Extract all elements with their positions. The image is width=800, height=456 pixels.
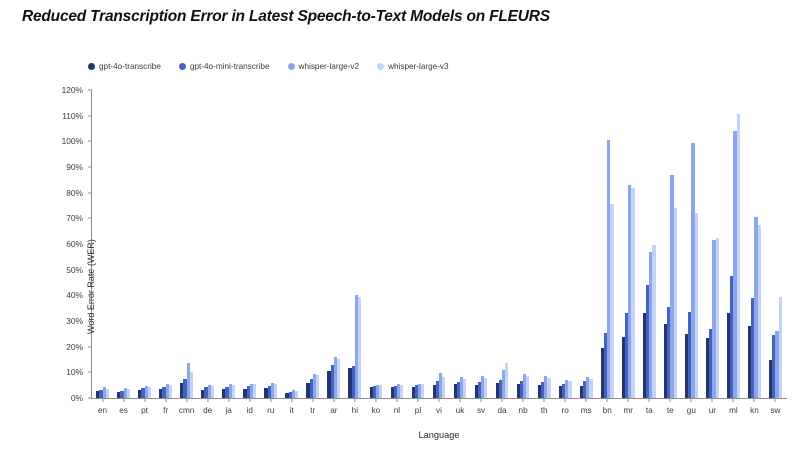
bar-group-ar[interactable]: ar [323, 90, 344, 398]
x-axis-tick-label: te [667, 406, 674, 415]
bar-group-es[interactable]: es [113, 90, 134, 398]
x-axis-tick-mark [249, 398, 250, 402]
x-axis-tick-label: da [498, 406, 507, 415]
x-axis-label: Language [92, 430, 786, 440]
bar-group-de[interactable]: de [197, 90, 218, 398]
x-axis-tick-label: it [290, 406, 294, 415]
x-axis-tick-mark [586, 398, 587, 402]
bar-ur-whisper-large-v3[interactable] [716, 238, 719, 398]
x-axis-tick-label: ko [372, 406, 381, 415]
x-axis-tick-mark [502, 398, 503, 402]
x-axis-tick-mark [691, 398, 692, 402]
bar-group-tr[interactable]: tr [302, 90, 323, 398]
x-axis-tick-mark [354, 398, 355, 402]
bar-group-it[interactable]: it [281, 90, 302, 398]
legend-label: whisper-large-v3 [388, 62, 449, 71]
bar-group-id[interactable]: id [239, 90, 260, 398]
bar-ru-whisper-large-v3[interactable] [274, 384, 277, 398]
x-axis-tick-mark [270, 398, 271, 402]
x-axis-tick-label: fr [163, 406, 168, 415]
bar-ta-whisper-large-v3[interactable] [652, 245, 655, 398]
x-axis-tick-mark [123, 398, 124, 402]
bar-group-ta[interactable]: ta [639, 90, 660, 398]
bar-sv-whisper-large-v3[interactable] [484, 378, 487, 398]
legend-swatch-icon [88, 63, 95, 70]
bar-ml-whisper-large-v3[interactable] [737, 114, 740, 398]
bar-group-bn[interactable]: bn [597, 90, 618, 398]
legend-label: whisper-large-v2 [299, 62, 360, 71]
x-axis-tick-label: id [247, 406, 253, 415]
bar-group-ko[interactable]: ko [365, 90, 386, 398]
legend-item-gpt-4o-mini-transcribe[interactable]: gpt-4o-mini-transcribe [179, 62, 270, 71]
bar-group-ms[interactable]: ms [576, 90, 597, 398]
x-axis-tick-mark [607, 398, 608, 402]
bar-group-sv[interactable]: sv [471, 90, 492, 398]
legend-label: gpt-4o-mini-transcribe [190, 62, 270, 71]
bar-ro-whisper-large-v3[interactable] [568, 381, 571, 398]
x-axis-tick-label: de [203, 406, 212, 415]
x-axis-tick-label: nb [519, 406, 528, 415]
bar-de-whisper-large-v3[interactable] [211, 386, 214, 398]
bar-es-whisper-large-v3[interactable] [127, 389, 130, 398]
x-axis-tick-mark [544, 398, 545, 402]
x-axis-tick-mark [417, 398, 418, 402]
bar-group-mr[interactable]: mr [618, 90, 639, 398]
x-axis-tick-mark [481, 398, 482, 402]
x-axis-tick-mark [207, 398, 208, 402]
plot-area: Word Error Rate (WER) Language 0%10%20%3… [92, 90, 786, 398]
x-axis-tick-label: bn [603, 406, 612, 415]
x-axis-tick-label: tr [310, 406, 315, 415]
x-axis-tick-label: es [119, 406, 128, 415]
bar-ko-whisper-large-v3[interactable] [379, 385, 382, 398]
x-axis-tick-mark [628, 398, 629, 402]
x-axis-tick-label: mr [623, 406, 633, 415]
bar-nb-whisper-large-v3[interactable] [526, 376, 529, 398]
x-axis-tick-mark [438, 398, 439, 402]
bar-th-whisper-large-v3[interactable] [547, 378, 550, 398]
x-axis-tick-mark [565, 398, 566, 402]
x-axis-tick-label: ja [225, 406, 231, 415]
bar-group-kn[interactable]: kn [744, 90, 765, 398]
bar-nl-whisper-large-v3[interactable] [400, 385, 403, 398]
bar-group-pt[interactable]: pt [134, 90, 155, 398]
x-axis-tick-label: en [98, 406, 107, 415]
x-axis-tick-label: pl [415, 406, 421, 415]
legend-swatch-icon [377, 63, 384, 70]
legend-item-whisper-large-v2[interactable]: whisper-large-v2 [288, 62, 360, 71]
x-axis-tick-mark [712, 398, 713, 402]
bar-group-uk[interactable]: uk [450, 90, 471, 398]
bar-group-ru[interactable]: ru [260, 90, 281, 398]
bar-cmn-whisper-large-v3[interactable] [190, 372, 193, 398]
bar-mr-whisper-large-v3[interactable] [631, 188, 634, 398]
bar-group-ro[interactable]: ro [555, 90, 576, 398]
bar-ms-whisper-large-v3[interactable] [589, 379, 592, 398]
x-axis-tick-label: cmn [179, 406, 194, 415]
x-axis-tick-mark [291, 398, 292, 402]
bar-group-en[interactable]: en [92, 90, 113, 398]
chart-legend: gpt-4o-transcribegpt-4o-mini-transcribew… [88, 62, 449, 71]
bar-group-ml[interactable]: ml [723, 90, 744, 398]
bar-pt-whisper-large-v3[interactable] [148, 387, 151, 398]
x-axis-tick-label: ur [709, 406, 716, 415]
bar-group-nb[interactable]: nb [513, 90, 534, 398]
legend-swatch-icon [288, 63, 295, 70]
x-axis-tick-mark [775, 398, 776, 402]
x-axis-tick-label: ml [729, 406, 738, 415]
x-axis-tick-mark [754, 398, 755, 402]
bar-te-whisper-large-v3[interactable] [674, 208, 677, 398]
x-axis-tick-label: vi [436, 406, 442, 415]
legend-swatch-icon [179, 63, 186, 70]
legend-item-whisper-large-v3[interactable]: whisper-large-v3 [377, 62, 449, 71]
bar-group-ur[interactable]: ur [702, 90, 723, 398]
bar-group-fr[interactable]: fr [155, 90, 176, 398]
bar-it-whisper-large-v3[interactable] [295, 391, 298, 398]
x-axis-tick-label: sv [477, 406, 485, 415]
x-axis-tick-mark [144, 398, 145, 402]
bar-gu-whisper-large-v3[interactable] [695, 213, 698, 398]
x-axis-tick-mark [396, 398, 397, 402]
x-axis-tick-mark [312, 398, 313, 402]
bar-pl-whisper-large-v3[interactable] [421, 384, 424, 398]
bar-group-pl[interactable]: pl [407, 90, 428, 398]
bar-kn-whisper-large-v3[interactable] [758, 225, 761, 398]
bar-fr-whisper-large-v3[interactable] [169, 385, 172, 398]
bar-da-whisper-large-v3[interactable] [505, 363, 508, 398]
x-axis-tick-label: nl [394, 406, 400, 415]
bar-group-cmn[interactable]: cmn [176, 90, 197, 398]
bar-ja-whisper-large-v3[interactable] [232, 385, 235, 398]
x-axis-tick-label: uk [456, 406, 465, 415]
legend-label: gpt-4o-transcribe [99, 62, 161, 71]
x-axis-tick-label: hi [352, 406, 358, 415]
legend-item-gpt-4o-transcribe[interactable]: gpt-4o-transcribe [88, 62, 161, 71]
bar-group-gu[interactable]: gu [681, 90, 702, 398]
x-axis-tick-mark [649, 398, 650, 402]
bar-uk-whisper-large-v3[interactable] [463, 379, 466, 399]
bar-group-ja[interactable]: ja [218, 90, 239, 398]
bar-en-whisper-large-v3[interactable] [106, 389, 109, 398]
x-axis-tick-mark [460, 398, 461, 402]
x-axis-tick-mark [333, 398, 334, 402]
x-axis-tick-mark [165, 398, 166, 402]
bar-tr-whisper-large-v3[interactable] [316, 375, 319, 398]
x-axis-tick-mark [186, 398, 187, 402]
x-axis-tick-label: gu [687, 406, 696, 415]
page-title: Reduced Transcription Error in Latest Sp… [22, 8, 550, 26]
bar-group-sw[interactable]: sw [765, 90, 786, 398]
bar-id-whisper-large-v3[interactable] [253, 384, 256, 398]
x-axis-tick-label: pt [141, 406, 148, 415]
bar-sw-whisper-large-v3[interactable] [779, 297, 782, 398]
x-axis-tick-label: sw [770, 406, 780, 415]
x-axis-tick-mark [733, 398, 734, 402]
bar-group-nl[interactable]: nl [386, 90, 407, 398]
bar-hi-whisper-large-v3[interactable] [358, 297, 361, 398]
bar-group-vi[interactable]: vi [428, 90, 449, 398]
bar-group-da[interactable]: da [492, 90, 513, 398]
bar-vi-whisper-large-v3[interactable] [442, 377, 445, 398]
x-axis-tick-mark [102, 398, 103, 402]
x-axis-tick-mark [670, 398, 671, 402]
x-axis-tick-label: ms [581, 406, 592, 415]
bar-group-te[interactable]: te [660, 90, 681, 398]
x-axis-tick-mark [375, 398, 376, 402]
bar-group-th[interactable]: th [534, 90, 555, 398]
x-axis-tick-mark [523, 398, 524, 402]
bar-group-hi[interactable]: hi [344, 90, 365, 398]
x-axis-tick-label: ta [646, 406, 653, 415]
x-axis-tick-label: th [541, 406, 548, 415]
bar-bn-whisper-large-v3[interactable] [610, 204, 613, 398]
bar-ar-whisper-large-v3[interactable] [337, 359, 340, 398]
x-axis-tick-label: ru [267, 406, 274, 415]
x-axis-tick-label: ro [562, 406, 569, 415]
x-axis-tick-label: ar [330, 406, 337, 415]
x-axis-tick-mark [228, 398, 229, 402]
x-axis-tick-label: kn [750, 406, 759, 415]
